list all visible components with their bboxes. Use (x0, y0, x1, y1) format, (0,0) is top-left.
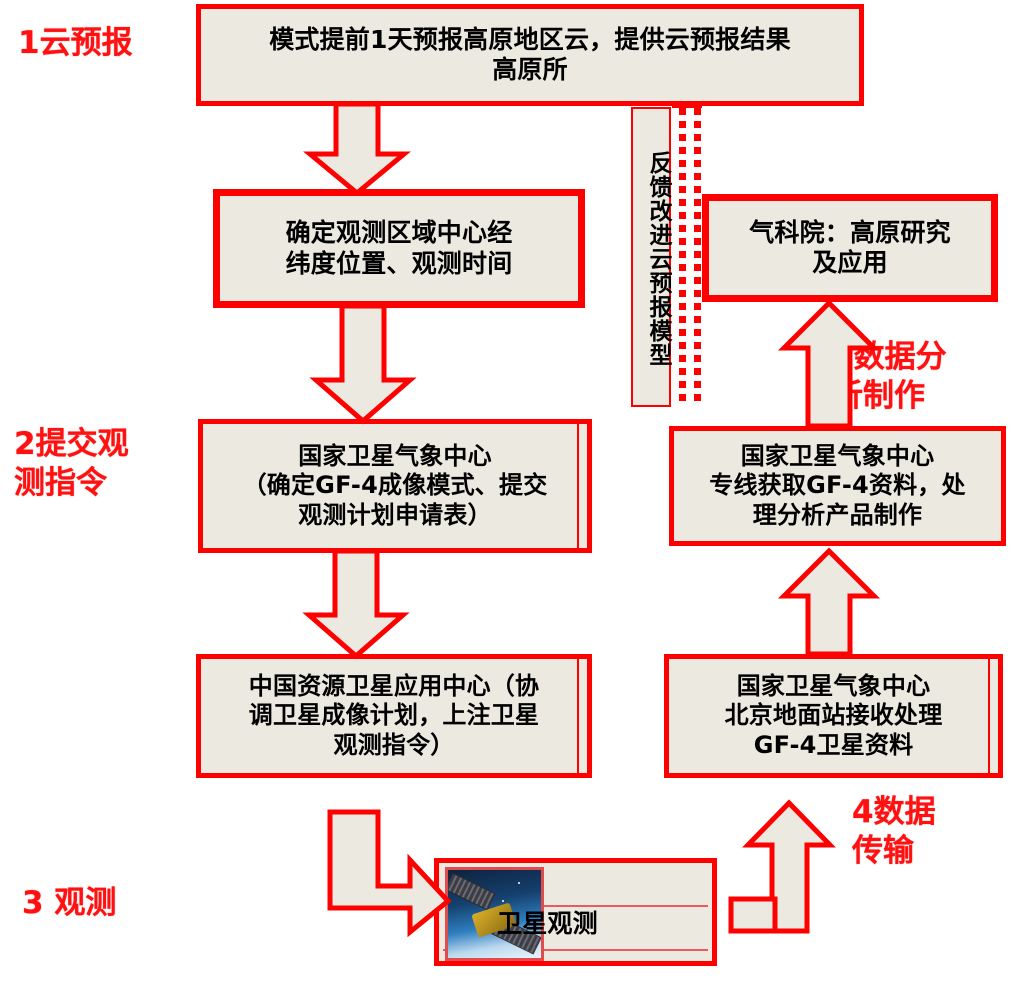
node-nsmc-submit-plan[interactable]: 国家卫星气象中心 （确定GF-4成像模式、提交 观测计划申请表） (198, 419, 592, 553)
arrow-satellite-to-ground-station (727, 795, 845, 935)
node-cresda-uplink-line3: 观测指令） (334, 731, 455, 759)
node-cresda-uplink-text: 中国资源卫星应用中心（协 调卫星成像计划，上注卫星 观测指令） (201, 659, 587, 773)
node-cloud-forecast[interactable]: 模式提前1天预报高原地区云，提供云预报结果 高原所 (196, 4, 864, 106)
node-cams-research[interactable]: 气科院：高原研究 及应用 (702, 194, 998, 302)
arrow-region-to-nsmc-submit (311, 306, 415, 424)
node-satellite-observation-label: 卫星观测 (497, 909, 598, 940)
node-cresda-uplink[interactable]: 中国资源卫星应用中心（协 调卫星成像计划，上注卫星 观测指令） (196, 654, 592, 778)
node-cams-research-line2: 及应用 (812, 248, 888, 277)
stage-label-1: 1云预报 (18, 24, 133, 63)
node-beijing-ground-station-line1: 国家卫星气象中心 (737, 672, 931, 700)
node-nsmc-product-processing[interactable]: 国家卫星气象中心 专线获取GF-4资料，处 理分析产品制作 (669, 426, 1006, 546)
node-nsmc-product-processing-line2: 专线获取GF-4资料，处 (709, 471, 965, 499)
stage-label-4: 4数据 传输 (852, 793, 936, 871)
stage-label-3: 3 观测 (22, 884, 116, 923)
node-cams-research-text: 气科院：高原研究 及应用 (707, 199, 993, 297)
stage-label-2: 2提交观 测指令 (14, 425, 129, 503)
satellite-node-body: 卫星观测 (439, 863, 712, 961)
node-feedback-improve-model[interactable]: 反馈改进云预报模型 (631, 107, 671, 407)
node-nsmc-product-processing-line1: 国家卫星气象中心 (741, 442, 935, 470)
node-cresda-uplink-line2: 调卫星成像计划，上注卫星 (249, 701, 539, 729)
satellite-solar-panel-icon (445, 872, 496, 910)
node-observation-region[interactable]: 确定观测区域中心经 纬度位置、观测时间 (213, 189, 585, 308)
node-beijing-ground-station-text: 国家卫星气象中心 北京地面站接收处理 GF-4卫星资料 (669, 659, 998, 773)
node-observation-region-text: 确定观测区域中心经 纬度位置、观测时间 (218, 194, 580, 303)
node-nsmc-submit-plan-line1: 国家卫星气象中心 (298, 442, 492, 470)
node-beijing-ground-station-line2: 北京地面站接收处理 (725, 701, 943, 729)
node-nsmc-submit-plan-text: 国家卫星气象中心 （确定GF-4成像模式、提交 观测计划申请表） (203, 424, 587, 548)
feedback-dotted-line-2 (694, 108, 701, 406)
node-satellite-observation[interactable]: 卫星观测 (434, 858, 717, 966)
arrow-forecast-to-region (305, 104, 409, 196)
node-nsmc-submit-plan-line2: （确定GF-4成像模式、提交 (243, 471, 548, 499)
node-cresda-uplink-line1: 中国资源卫星应用中心（协 (249, 672, 539, 700)
feedback-dotted-line-1 (679, 108, 686, 406)
node-nsmc-submit-plan-line3: 观测计划申请表） (298, 501, 492, 529)
node-cloud-forecast-text: 模式提前1天预报高原地区云，提供云预报结果 高原所 (201, 9, 859, 101)
node-beijing-ground-station-line3: GF-4卫星资料 (754, 731, 914, 759)
node-observation-region-line2: 纬度位置、观测时间 (286, 249, 513, 278)
node-beijing-ground-station[interactable]: 国家卫星气象中心 北京地面站接收处理 GF-4卫星资料 (664, 654, 1003, 778)
node-cloud-forecast-line2: 高原所 (492, 55, 568, 84)
flowchart-canvas: 1云预报 2提交观 测指令 3 观测 4数据 传输 5数据分 析制作 模式提前1… (0, 0, 1024, 994)
node-observation-region-line1: 确定观测区域中心经 (286, 218, 513, 247)
arrow-nsmc-submit-to-cresda (304, 551, 408, 659)
arrow-nsmc-process-to-cams (777, 300, 881, 430)
arrow-cresda-to-satellite (326, 808, 452, 936)
node-nsmc-product-processing-line3: 理分析产品制作 (753, 501, 922, 529)
node-nsmc-product-processing-text: 国家卫星气象中心 专线获取GF-4资料，处 理分析产品制作 (674, 431, 1001, 541)
node-cloud-forecast-line1: 模式提前1天预报高原地区云，提供云预报结果 (269, 25, 791, 54)
node-cams-research-line1: 气科院：高原研究 (749, 218, 951, 247)
arrow-ground-station-to-nsmc-process (777, 548, 881, 658)
